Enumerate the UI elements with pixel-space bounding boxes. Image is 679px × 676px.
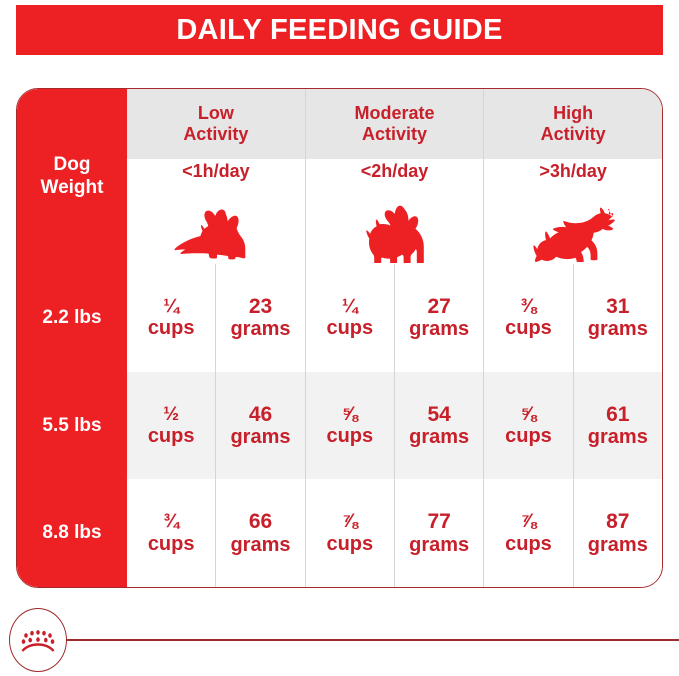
activity-header-row: Low Activity Moderate Activity High Acti… xyxy=(127,89,662,159)
dog-standing-icon xyxy=(362,205,428,263)
activity-suffix-moderate: Activity xyxy=(362,124,427,145)
amount-value: ⅝ xyxy=(521,404,537,425)
amount-unit: cups xyxy=(148,425,195,447)
dog-weight-header: Dog Weight xyxy=(17,89,127,264)
cell-r2-low-cups: ½ cups xyxy=(127,372,216,480)
activity-suffix-high: Activity xyxy=(541,124,606,145)
activity-hours-moderate: <2h/day xyxy=(306,159,485,204)
table-row: ¾ cups 66 grams ⅞ cups 77 grams xyxy=(127,479,662,587)
cell-r1-moderate-grams: 27 grams xyxy=(395,264,484,372)
cell-r1-high-grams: 31 grams xyxy=(574,264,662,372)
cell-r1-moderate-cups: ¼ cups xyxy=(306,264,395,372)
amount-unit: grams xyxy=(588,426,648,448)
amount-value: 54 xyxy=(427,403,450,427)
amount-unit: cups xyxy=(148,317,195,339)
amount-unit: grams xyxy=(230,318,290,340)
weight-value-row-2: 5.5 lbs xyxy=(17,372,127,480)
amount-unit: grams xyxy=(588,318,648,340)
amount-value: ⅜ xyxy=(521,296,537,317)
cell-r3-high-grams: 87 grams xyxy=(574,479,662,587)
weight-value-row-3: 8.8 lbs xyxy=(17,479,127,587)
amount-value: ⅞ xyxy=(521,511,537,532)
footer xyxy=(0,600,679,676)
amount-unit: cups xyxy=(505,533,552,555)
amount-value: ⅝ xyxy=(342,404,358,425)
amount-value: 46 xyxy=(249,403,272,427)
activity-name-low: Low xyxy=(198,103,234,124)
dog-weight-header-line1: Dog xyxy=(54,154,91,176)
dog-weight-column: Dog Weight 2.2 lbs 5.5 lbs 8.8 lbs xyxy=(17,89,127,587)
amount-value: ¼ xyxy=(342,296,358,317)
cell-r3-low-grams: 66 grams xyxy=(216,479,305,587)
activity-name-high: High xyxy=(553,103,593,124)
activity-icon-cell-moderate xyxy=(306,204,485,264)
table-row: ¼ cups 23 grams ¼ cups 27 grams xyxy=(127,264,662,372)
amount-value: 77 xyxy=(427,510,450,534)
page-title: DAILY FEEDING GUIDE xyxy=(176,14,502,47)
activity-suffix-low: Activity xyxy=(183,124,248,145)
activity-name-moderate: Moderate xyxy=(355,103,435,124)
amount-value: 27 xyxy=(427,295,450,319)
amount-value: 61 xyxy=(606,403,629,427)
table-border: Dog Weight 2.2 lbs 5.5 lbs 8.8 lbs Low A… xyxy=(16,88,663,588)
amount-unit: grams xyxy=(230,534,290,556)
activity-header-moderate: Moderate Activity xyxy=(306,89,485,159)
activity-icon-row xyxy=(127,204,662,264)
dog-lying-icon xyxy=(173,207,259,261)
activity-hours-row: <1h/day <2h/day >3h/day xyxy=(127,159,662,204)
amount-value: ¾ xyxy=(163,511,179,532)
amount-value: ⅞ xyxy=(342,511,358,532)
amount-unit: cups xyxy=(505,317,552,339)
activity-hours-high: >3h/day xyxy=(484,159,662,204)
cell-r2-moderate-cups: ⅝ cups xyxy=(306,372,395,480)
amount-value: ½ xyxy=(163,404,179,425)
cell-r1-low-grams: 23 grams xyxy=(216,264,305,372)
amount-unit: grams xyxy=(409,318,469,340)
amount-unit: cups xyxy=(148,533,195,555)
cell-r3-moderate-grams: 77 grams xyxy=(395,479,484,587)
amount-unit: grams xyxy=(588,534,648,556)
activity-icon-cell-low xyxy=(127,204,306,264)
amount-unit: grams xyxy=(409,426,469,448)
dog-running-icon xyxy=(525,206,621,262)
amount-unit: cups xyxy=(326,425,373,447)
amount-value: 23 xyxy=(249,295,272,319)
cell-r1-high-cups: ⅜ cups xyxy=(484,264,573,372)
table-header-block: Low Activity Moderate Activity High Acti… xyxy=(127,89,662,264)
activity-header-low: Low Activity xyxy=(127,89,306,159)
activity-header-high: High Activity xyxy=(484,89,662,159)
table-row: ½ cups 46 grams ⅝ cups 54 grams xyxy=(127,372,662,480)
cell-r3-high-cups: ⅞ cups xyxy=(484,479,573,587)
activity-hours-low: <1h/day xyxy=(127,159,306,204)
title-banner: DAILY FEEDING GUIDE xyxy=(16,5,663,55)
feeding-guide-page: DAILY FEEDING GUIDE Dog Weight 2.2 lbs 5… xyxy=(0,0,679,676)
cell-r3-moderate-cups: ⅞ cups xyxy=(306,479,395,587)
amount-unit: cups xyxy=(326,533,373,555)
dog-weight-header-line2: Weight xyxy=(41,177,104,199)
royal-canin-crown-icon xyxy=(9,608,67,672)
cell-r3-low-cups: ¾ cups xyxy=(127,479,216,587)
activity-icon-cell-high xyxy=(484,204,662,264)
amount-unit: cups xyxy=(326,317,373,339)
footer-divider-line xyxy=(64,639,679,641)
amount-unit: cups xyxy=(505,425,552,447)
amount-value: 87 xyxy=(606,510,629,534)
feeding-table: Dog Weight 2.2 lbs 5.5 lbs 8.8 lbs Low A… xyxy=(16,88,663,588)
table-data-area: Low Activity Moderate Activity High Acti… xyxy=(127,89,662,587)
cell-r1-low-cups: ¼ cups xyxy=(127,264,216,372)
cell-r2-low-grams: 46 grams xyxy=(216,372,305,480)
amount-value: 66 xyxy=(249,510,272,534)
amount-value: ¼ xyxy=(163,296,179,317)
cell-r2-high-cups: ⅝ cups xyxy=(484,372,573,480)
amount-unit: grams xyxy=(230,426,290,448)
weight-value-row-1: 2.2 lbs xyxy=(17,264,127,372)
amount-value: 31 xyxy=(606,295,629,319)
amount-unit: grams xyxy=(409,534,469,556)
cell-r2-moderate-grams: 54 grams xyxy=(395,372,484,480)
cell-r2-high-grams: 61 grams xyxy=(574,372,662,480)
